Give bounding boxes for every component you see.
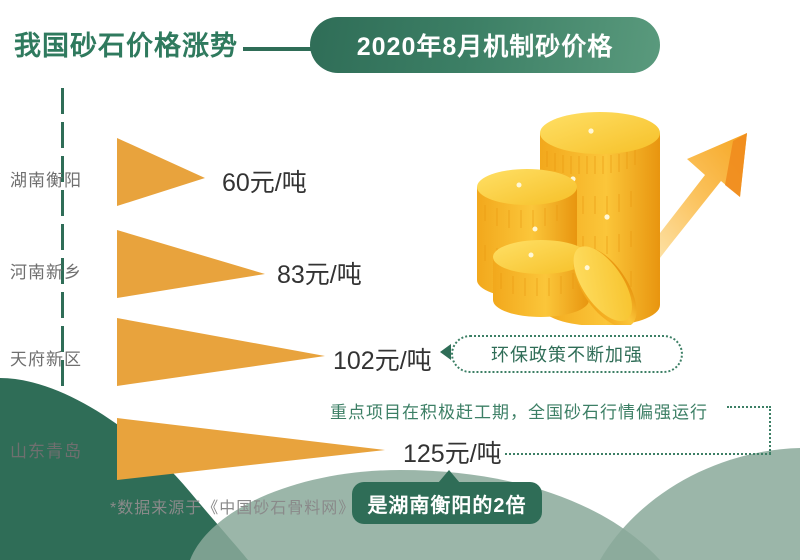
row-label-3: 天府新区 (10, 345, 82, 370)
row-label-4: 山东青岛 (10, 437, 82, 462)
policy-callout: 环保政策不断加强 (451, 335, 683, 373)
title-rule (243, 47, 315, 51)
connector-dot-bottom (505, 453, 771, 455)
bar-marker-4 (117, 418, 389, 490)
row-value-2: 83元/吨 (277, 255, 362, 291)
connector-dot-top (727, 406, 771, 408)
row-label-1: 湖南衡阳 (10, 166, 82, 191)
infographic-canvas: 我国砂石价格涨势 2020年8月机制砂价格 (0, 0, 800, 560)
multiple-badge-label: 是湖南衡阳的2倍 (367, 489, 526, 518)
gold-coin-stacks-icon (455, 55, 800, 325)
source-note: *数据来源于《中国砂石骨料网》 (110, 494, 355, 518)
multiple-badge: 是湖南衡阳的2倍 (352, 482, 542, 524)
row-value-4: 125元/吨 (403, 434, 502, 470)
row-label-2: 河南新乡 (10, 258, 82, 283)
blob-bottom-right (600, 448, 800, 560)
bar-marker-3 (117, 318, 329, 390)
projects-note: 重点项目在积极赶工期，全国砂石行情偏强运行 (330, 398, 708, 423)
row-value-1: 60元/吨 (222, 163, 307, 199)
bar-marker-2 (117, 230, 269, 302)
connector-dot-vertical (769, 406, 771, 454)
policy-callout-label: 环保政策不断加强 (491, 341, 643, 367)
page-title: 我国砂石价格涨势 (14, 24, 238, 63)
coin-stack-front-bottom (493, 240, 589, 317)
policy-callout-arrow-icon (440, 344, 451, 360)
row-value-3: 102元/吨 (333, 341, 432, 377)
bar-marker-1 (117, 138, 209, 210)
